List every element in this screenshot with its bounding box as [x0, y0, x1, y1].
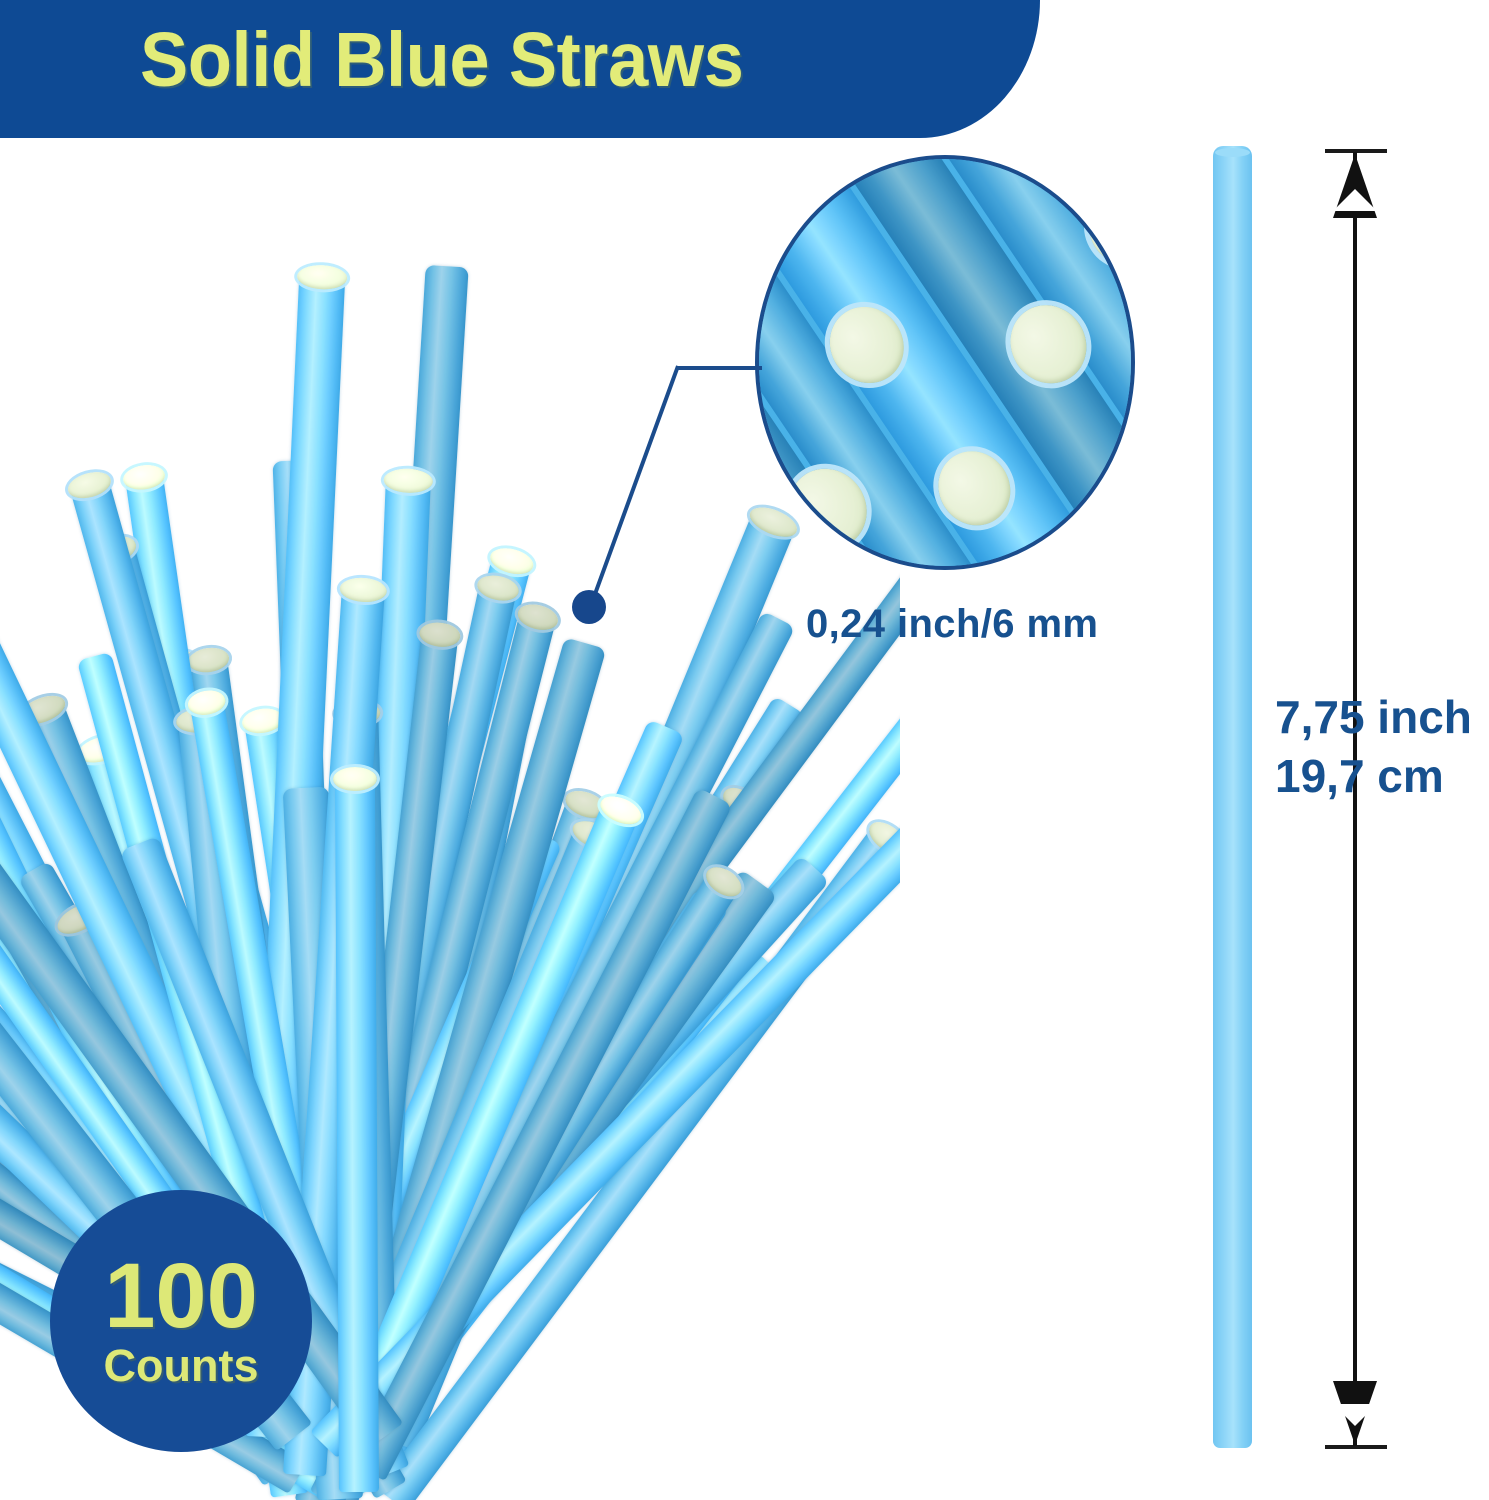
straw	[335, 775, 379, 1492]
arrow-down-notch-icon	[1333, 1404, 1377, 1426]
product-image-canvas: 0,24 inch/6 mm Solid Blue Straws 100 Cou…	[0, 0, 1489, 1500]
callout-marker-dot-icon	[572, 590, 606, 624]
count-badge-number: 100	[104, 1254, 258, 1339]
leader-line-horizontal-icon	[676, 366, 762, 370]
magnifier-circle-icon	[755, 155, 1135, 570]
diameter-label: 0,24 inch/6 mm	[806, 602, 1098, 647]
length-label: 7,75 inch 19,7 cm	[1275, 688, 1472, 806]
arrow-up-notch-icon	[1333, 189, 1377, 211]
length-label-inch: 7,75 inch	[1275, 688, 1472, 747]
reference-straw	[1213, 146, 1252, 1448]
length-label-cm: 19,7 cm	[1275, 747, 1472, 806]
page-title: Solid Blue Straws	[140, 16, 743, 105]
magnified-straw-detail	[755, 155, 1135, 570]
count-badge: 100 Counts	[50, 1190, 312, 1452]
count-badge-label: Counts	[104, 1343, 259, 1388]
